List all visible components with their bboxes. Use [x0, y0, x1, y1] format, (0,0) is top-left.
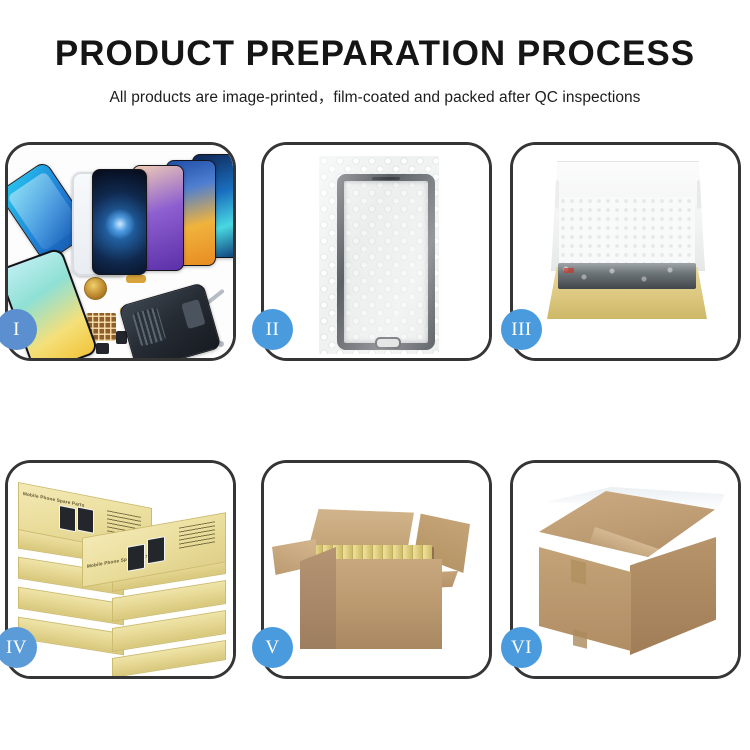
panel-step-2: II [261, 142, 492, 361]
page-title: PRODUCT PREPARATION PROCESS [0, 0, 750, 74]
panel-step-3: III [510, 142, 741, 361]
phones-and-parts-illustration [8, 145, 233, 358]
carton-tab-lower [573, 629, 587, 648]
open-kraft-box-illustration [513, 145, 738, 358]
vibrator-part [96, 343, 109, 354]
bubble-wrapped-screen-illustration [264, 145, 489, 358]
panel-step-1-image [8, 145, 233, 358]
panel-step-1: I [5, 142, 236, 361]
open-carton-illustration [264, 463, 489, 676]
phone-teardown-back [118, 282, 221, 358]
page-header: PRODUCT PREPARATION PROCESS All products… [0, 0, 750, 107]
panel-step-2-image [264, 145, 489, 358]
box-phone-image-1b [77, 506, 94, 533]
carton-tab-upper [571, 559, 586, 585]
step-badge-5: V [252, 627, 293, 668]
box-phone-image-2b [147, 536, 165, 564]
step-badge-3: III [501, 309, 542, 350]
step-badge-2: II [252, 309, 293, 350]
process-steps-grid: I II III [5, 142, 745, 682]
bubble-wrap-sheet [319, 156, 439, 354]
step-badge-6: VI [501, 627, 542, 668]
panel-step-4-image: Mobile Phone Spare Parts Mobile Phone Sp… [8, 463, 233, 676]
coil-part-icon [84, 277, 107, 300]
panel-step-3-image [513, 145, 738, 358]
panel-step-6-image [513, 463, 738, 676]
foam-insert [559, 197, 695, 263]
wrapped-screen-in-box [558, 263, 696, 289]
box-stack: Mobile Phone Spare Parts Mobile Phone Sp… [16, 473, 232, 673]
page-subtitle: All products are image-printed，film-coat… [0, 74, 750, 107]
flex-cable-part-1 [126, 275, 146, 283]
panel-step-5: V [261, 460, 492, 679]
panel-step-6: VI [510, 460, 741, 679]
panel-step-5-image [264, 463, 489, 676]
phone-screen-nebula [92, 169, 147, 275]
sealed-carton-illustration [513, 463, 738, 676]
stacked-boxes-illustration: Mobile Phone Spare Parts Mobile Phone Sp… [8, 463, 233, 676]
panel-step-4: Mobile Phone Spare Parts Mobile Phone Sp… [5, 460, 236, 679]
box-phone-image-2a [127, 544, 145, 572]
box-phone-image-1a [59, 505, 76, 532]
carton-body-left [300, 547, 336, 649]
wrapped-phone-screen [337, 174, 435, 350]
